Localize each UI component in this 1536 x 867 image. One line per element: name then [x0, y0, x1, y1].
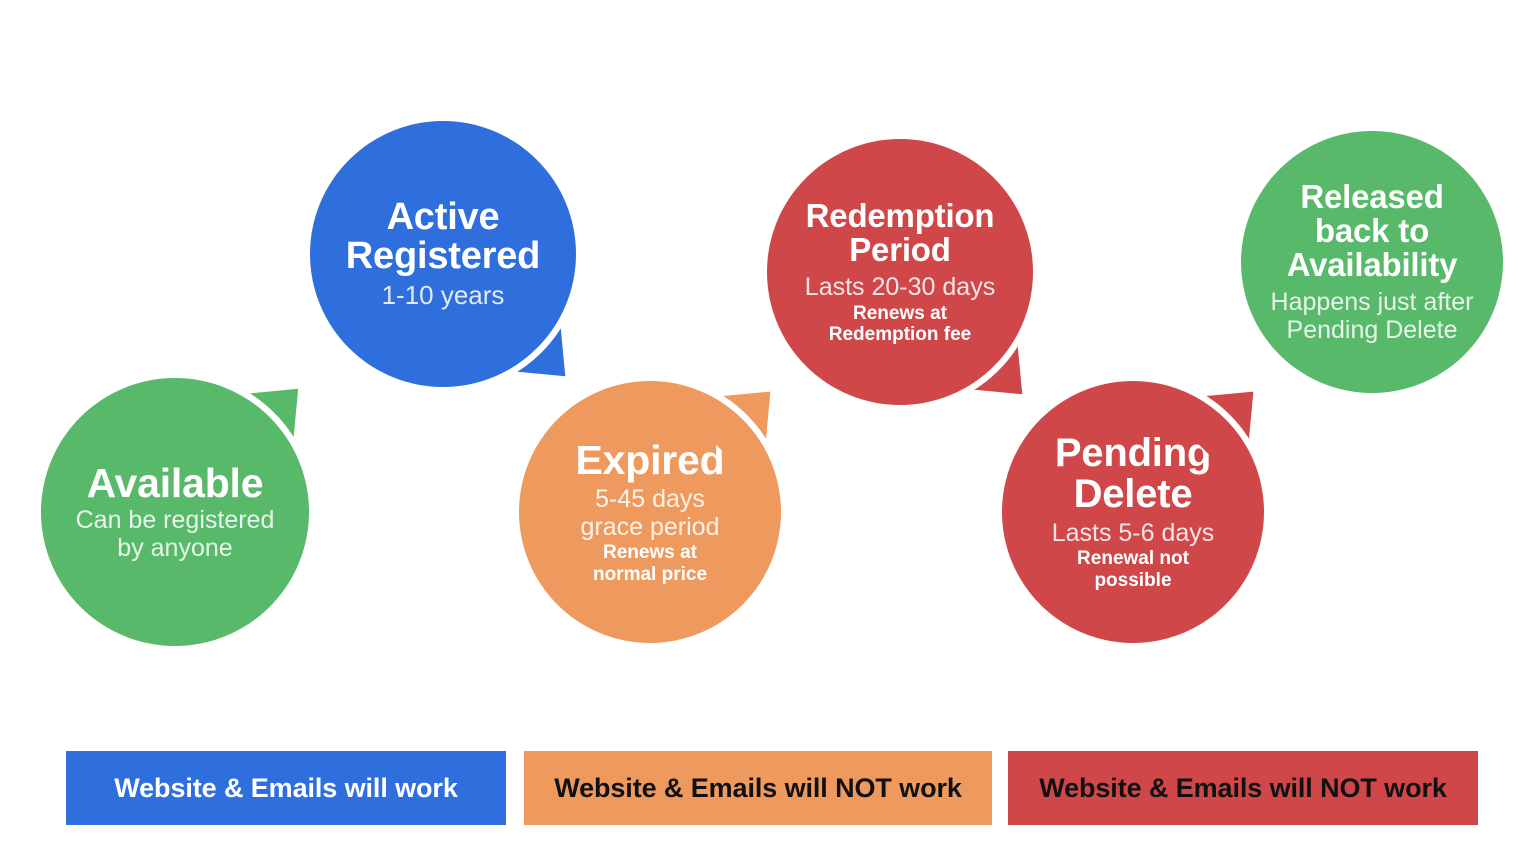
stage-node-expired[interactable]: Expired 5-45 days grace period Renews at…: [519, 381, 781, 643]
legend-label-2: Website & Emails will NOT work: [1039, 773, 1447, 804]
stage-node-active[interactable]: Active Registered 1-10 years: [310, 121, 576, 387]
legend-bar-website-emails-not-work-red[interactable]: Website & Emails will NOT work: [1008, 751, 1478, 825]
legend-row: Website & Emails will work Website & Ema…: [0, 748, 1536, 832]
stage-note-redemption: Renews at Redemption fee: [819, 303, 982, 346]
stage-title-redemption: Redemption Period: [800, 199, 1001, 267]
stage-title-available: Available: [81, 462, 270, 504]
stage-node-redemption[interactable]: Redemption Period Lasts 20-30 days Renew…: [767, 139, 1033, 405]
stage-subtitle-pending-delete: Lasts 5-6 days: [1044, 519, 1223, 547]
stage-note-pending-delete: Renewal not possible: [1067, 548, 1199, 591]
stage-title-active: Active Registered: [340, 198, 546, 276]
stage-subtitle-redemption: Lasts 20-30 days: [797, 273, 1003, 301]
legend-label-1: Website & Emails will NOT work: [554, 773, 962, 804]
stage-title-expired: Expired: [570, 439, 731, 481]
stage-title-released: Released back to Availability: [1281, 180, 1464, 282]
legend-bar-website-emails-not-work-orange[interactable]: Website & Emails will NOT work: [524, 751, 992, 825]
stage-title-pending-delete: Pending Delete: [1049, 433, 1217, 515]
stage-node-released[interactable]: Released back to Availability Happens ju…: [1241, 131, 1503, 393]
stage-note-expired: Renews at normal price: [583, 542, 717, 585]
stage-subtitle-expired: 5-45 days grace period: [573, 485, 728, 541]
legend-label-0: Website & Emails will work: [114, 773, 458, 804]
stage-node-pending-delete[interactable]: Pending Delete Lasts 5-6 days Renewal no…: [1002, 381, 1264, 643]
stage-subtitle-available: Can be registered by anyone: [68, 506, 283, 562]
diagram-canvas: Available Can be registered by anyone Ac…: [0, 0, 1536, 867]
stage-subtitle-active: 1-10 years: [374, 281, 513, 310]
legend-bar-website-emails-work[interactable]: Website & Emails will work: [66, 751, 506, 825]
stage-node-available[interactable]: Available Can be registered by anyone: [41, 378, 309, 646]
stage-subtitle-released: Happens just after Pending Delete: [1263, 288, 1482, 344]
